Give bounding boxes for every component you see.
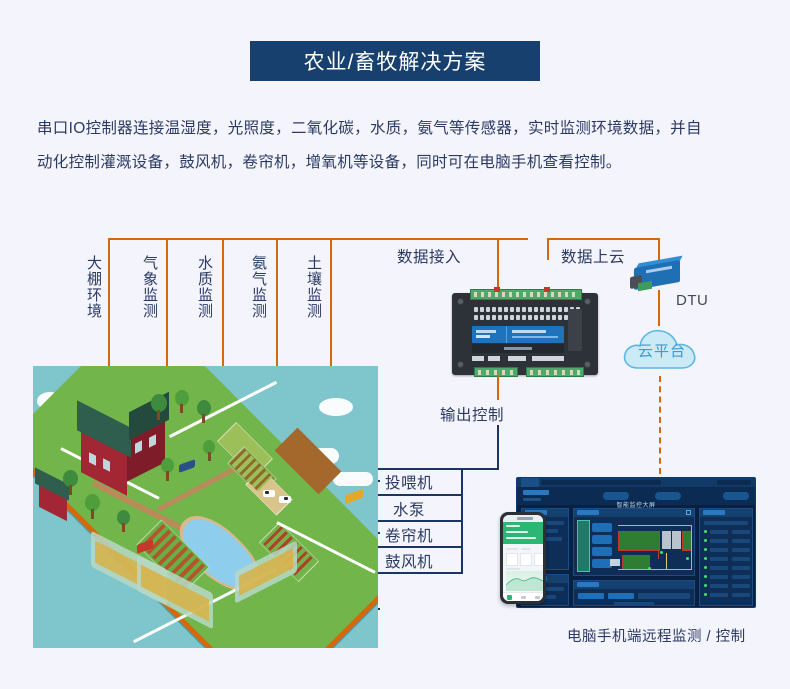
output-line-blind-right <box>461 520 463 546</box>
scada-tank-main <box>618 531 660 551</box>
mobile-app-mockup[interactable] <box>500 512 546 604</box>
cloud-platform-icon: 云平台 <box>620 322 704 374</box>
phone-status-bar <box>503 515 543 522</box>
output-bracket-vertical <box>497 425 499 470</box>
farm-cow-1 <box>263 490 275 497</box>
browser-toolbar <box>517 478 755 487</box>
sensor-label-ammonia: 氨气监测 <box>250 255 267 319</box>
scada-unit-1 <box>662 531 671 549</box>
phone-app-header <box>503 522 543 544</box>
dtu-label: DTU <box>676 292 708 309</box>
scada-pipe-yellow <box>666 553 667 569</box>
scada-unit-2 <box>672 531 681 549</box>
output-line-blind-top <box>378 520 463 522</box>
scada-pipe-bottom <box>618 569 692 570</box>
terminal-block-bottom-left <box>474 367 518 377</box>
dashboard-header: 智能监控大屏 <box>517 487 755 505</box>
cloud-bracket-left-drop <box>547 238 549 260</box>
terminal-block-bottom-right <box>526 367 584 377</box>
phone-metric-card-3 <box>534 553 543 566</box>
scada-button-4[interactable] <box>592 559 612 568</box>
scada-button-2[interactable] <box>592 535 612 544</box>
phone-bottom-nav[interactable] <box>503 592 543 601</box>
screw-bottom-right <box>584 361 591 368</box>
solution-diagram-page: 农业/畜牧解决方案 串口IO控制器连接温湿度，光照度，二氧化碳，水质，氨气等传感… <box>0 0 790 689</box>
device-side-block <box>568 309 582 351</box>
terminal-clip-right <box>544 287 550 292</box>
scada-tank-lower <box>622 555 650 570</box>
output-label-pump: 水泵 <box>393 498 425 520</box>
sensor-label-weather: 气象监测 <box>141 255 158 319</box>
dtu-device[interactable] <box>630 258 686 294</box>
sensor-label-greenhouse: 大棚环境 <box>85 255 102 319</box>
description-line-1: 串口IO控制器连接温湿度，光照度，二氧化碳，水质，氨气等传感器，实时监测环境数据… <box>37 112 755 146</box>
label-data-access: 数据接入 <box>397 245 461 267</box>
label-data-to-cloud: 数据上云 <box>561 245 625 267</box>
dashboard-scada-panel <box>573 508 695 576</box>
screw-bottom-left <box>457 361 464 368</box>
dashboard-pill-left[interactable] <box>603 492 629 500</box>
phone-tab-row[interactable] <box>506 548 518 550</box>
dtu-green-terminal <box>638 281 652 291</box>
scada-pipe-top <box>618 525 692 526</box>
scada-pipe-red <box>658 549 659 559</box>
phone-screen <box>503 515 543 601</box>
phone-metric-card-2 <box>520 553 532 566</box>
phone-metric-card-1 <box>506 553 518 566</box>
screw-top-left <box>457 298 464 305</box>
scada-button-3[interactable] <box>592 547 612 556</box>
terminal-clip-left <box>494 287 500 292</box>
output-label-blind: 卷帘机 <box>385 524 433 546</box>
phone-trend-chart <box>506 571 543 591</box>
dashboard-panel-right <box>699 508 753 606</box>
sensor-label-water: 水质监测 <box>196 255 213 319</box>
terminal-block-top <box>470 289 582 300</box>
output-label-blower: 鼓风机 <box>385 550 433 572</box>
phone-row-label <box>506 568 520 570</box>
page-title: 农业/畜牧解决方案 <box>304 46 487 76</box>
phone-tab-row-2[interactable] <box>521 548 531 550</box>
output-line-blower-top <box>378 546 463 548</box>
screw-top-right <box>584 298 591 305</box>
output-line-feeder-top <box>378 468 499 470</box>
farm-cow-2 <box>279 496 291 503</box>
cloud-platform-label: 云平台 <box>620 322 704 374</box>
led-row-upper <box>474 307 580 312</box>
dashboard-pill-far-right[interactable] <box>723 492 749 500</box>
output-line-pump-right <box>461 494 463 520</box>
page-title-banner: 农业/畜牧解决方案 <box>250 41 540 81</box>
isometric-farm-illustration <box>33 366 378 648</box>
output-line-feeder-right <box>461 468 463 494</box>
sensor-bracket-horizontal <box>108 238 528 240</box>
dashboard-pill-right[interactable] <box>655 492 681 500</box>
description-line-2: 动化控制灌溉设备，鼓风机，卷帘机，增氧机等设备，同时可在电脑手机查看控制。 <box>37 146 755 180</box>
io-controller-device[interactable] <box>452 293 598 375</box>
desktop-dashboard[interactable]: 智能监控大屏 <box>516 477 756 608</box>
sensor-label-soil: 土壤监测 <box>305 255 322 319</box>
led-row-lower <box>474 315 580 320</box>
sensor-bracket-drop <box>497 238 499 294</box>
output-label-feeder: 投喂机 <box>385 471 433 493</box>
browser-tab[interactable] <box>521 478 539 487</box>
device-model-strip <box>472 344 564 353</box>
remote-monitoring-caption: 电脑手机端远程监测 / 控制 <box>567 625 746 646</box>
scada-pipe-right-vert <box>691 525 692 569</box>
label-output-control: 输出控制 <box>440 403 504 425</box>
scada-button-1[interactable] <box>592 523 612 532</box>
cloud-to-monitor-connector <box>659 376 661 474</box>
description-text: 串口IO控制器连接温湿度，光照度，二氧化碳，水质，氨气等传感器，实时监测环境数据… <box>37 112 755 180</box>
browser-url-bar[interactable] <box>541 480 661 485</box>
output-line-blower-bottom <box>378 572 463 574</box>
dashboard-panel-bottom <box>573 580 695 606</box>
output-control-drop <box>497 375 499 400</box>
dtu-cloud-connector <box>658 290 660 326</box>
cloud-shape-6 <box>333 472 373 486</box>
cloud-shape-4 <box>319 398 353 416</box>
output-line-blower-right <box>461 546 463 572</box>
cloud-bracket-horizontal <box>547 238 660 240</box>
output-line-pump-top <box>378 494 463 496</box>
device-label-plate <box>472 326 564 343</box>
